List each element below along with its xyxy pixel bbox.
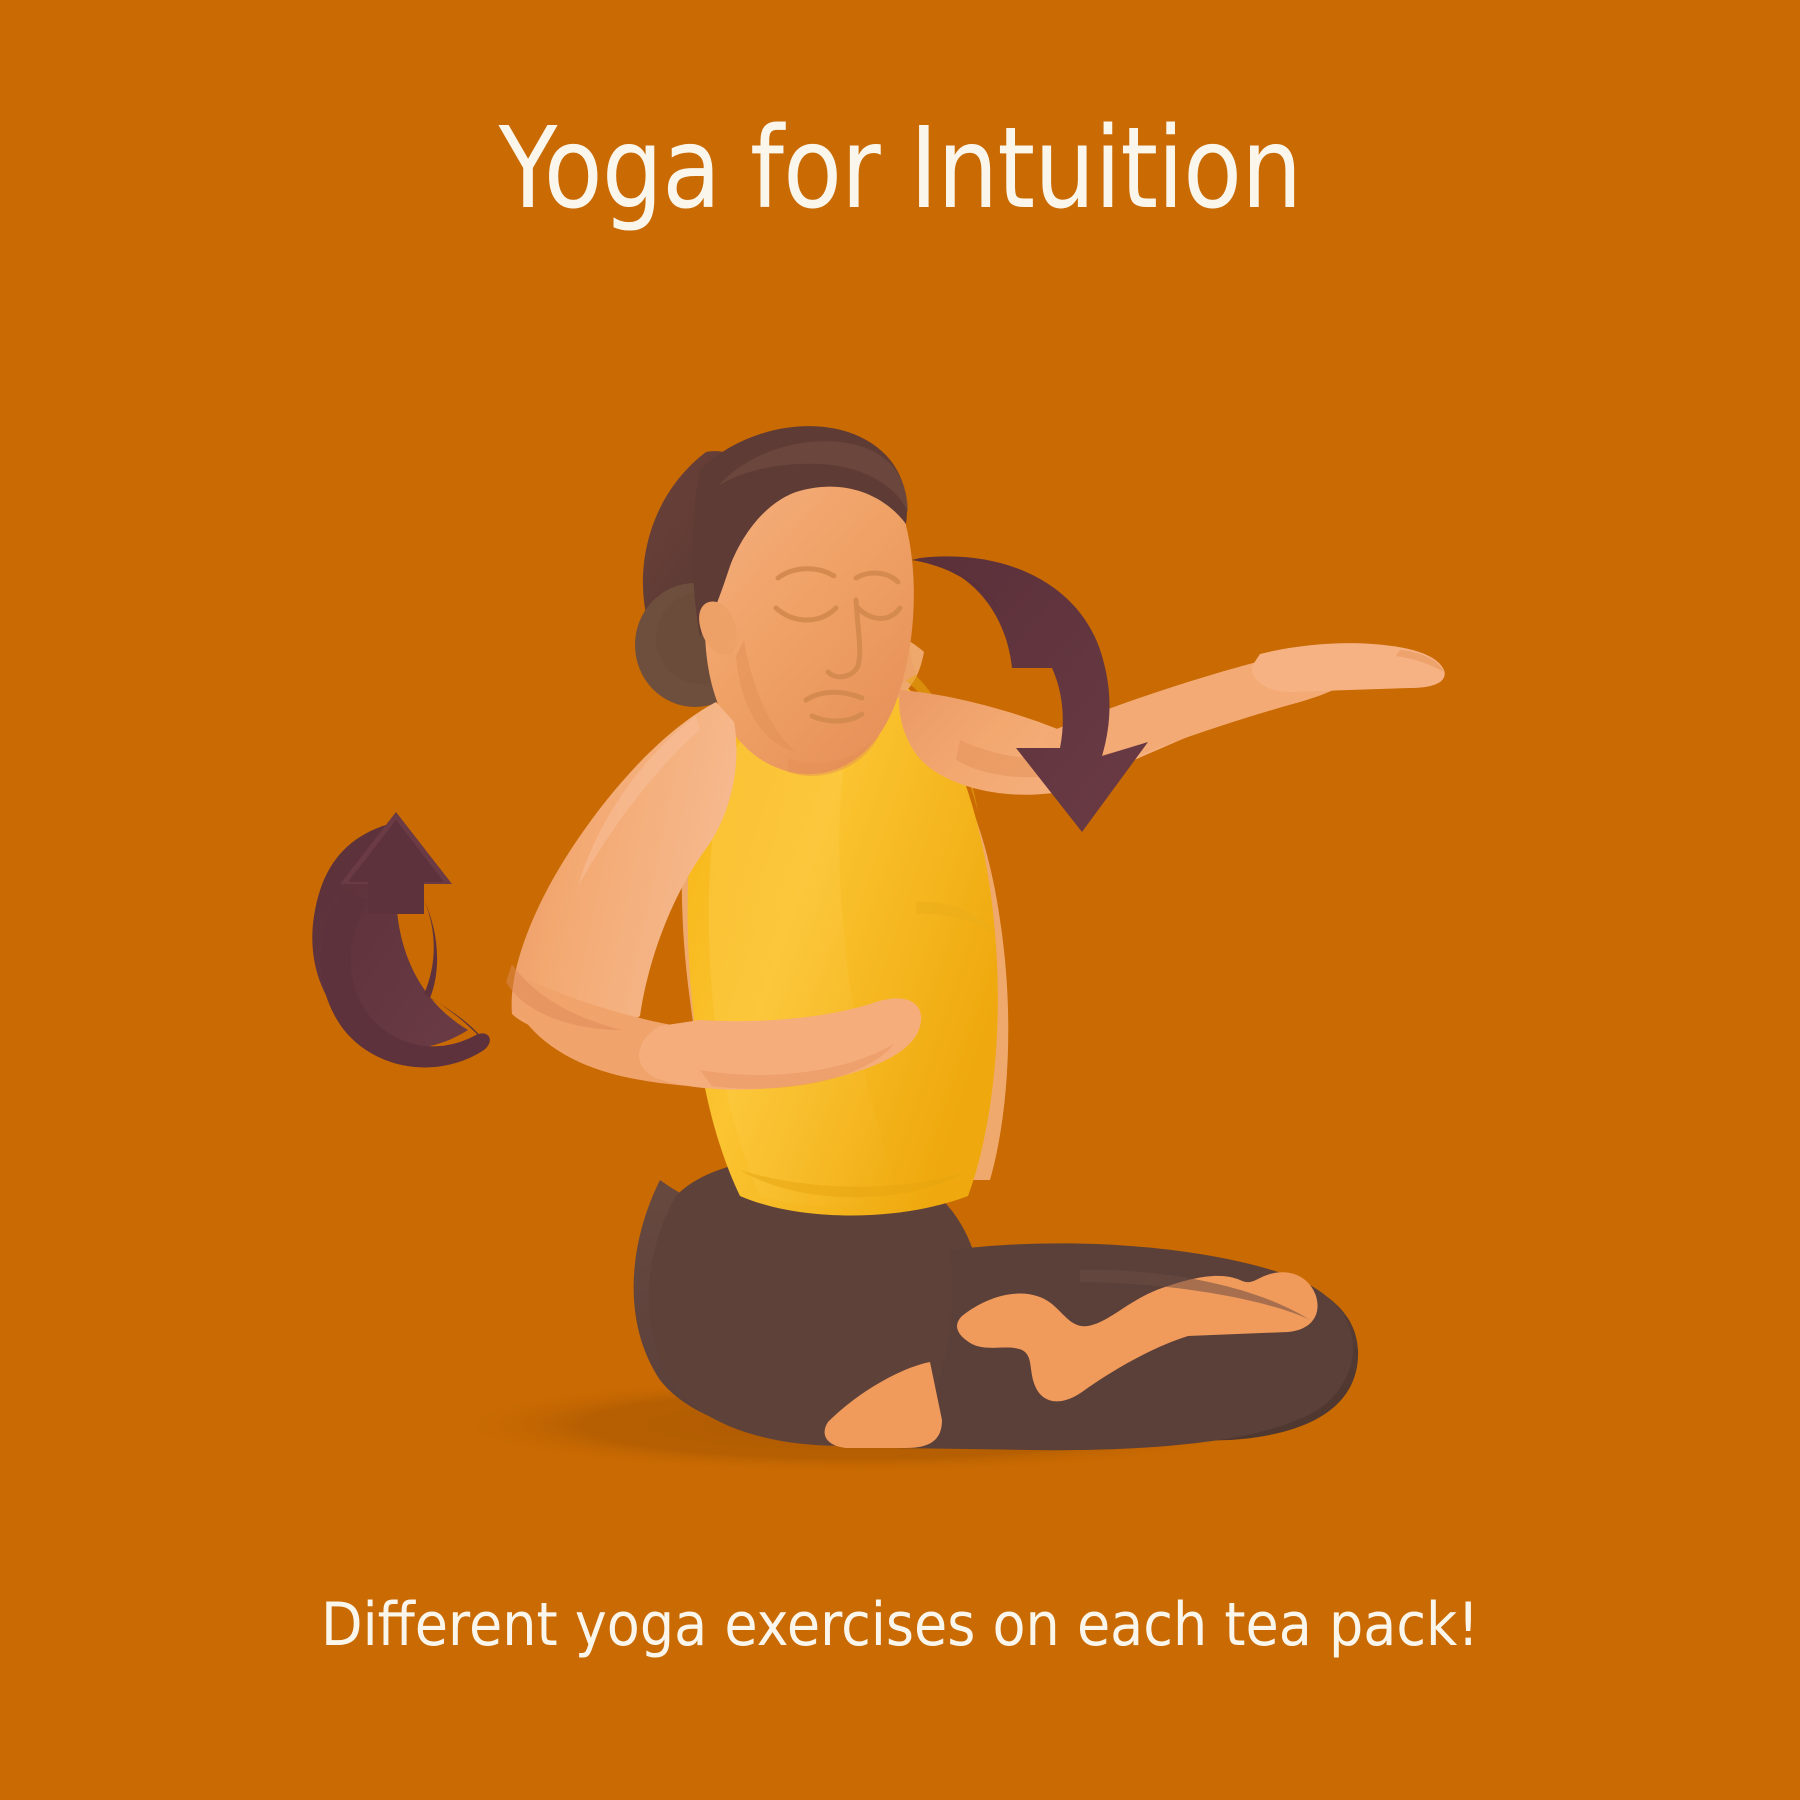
page-title: Yoga for Intuition: [126, 108, 1674, 231]
seated-yoga-woman-illustration: [0, 0, 1800, 1800]
page-subtitle: Different yoga exercises on each tea pac…: [90, 1592, 1710, 1658]
poster-root: Yoga for Intuition Different yoga exerci…: [0, 0, 1800, 1800]
